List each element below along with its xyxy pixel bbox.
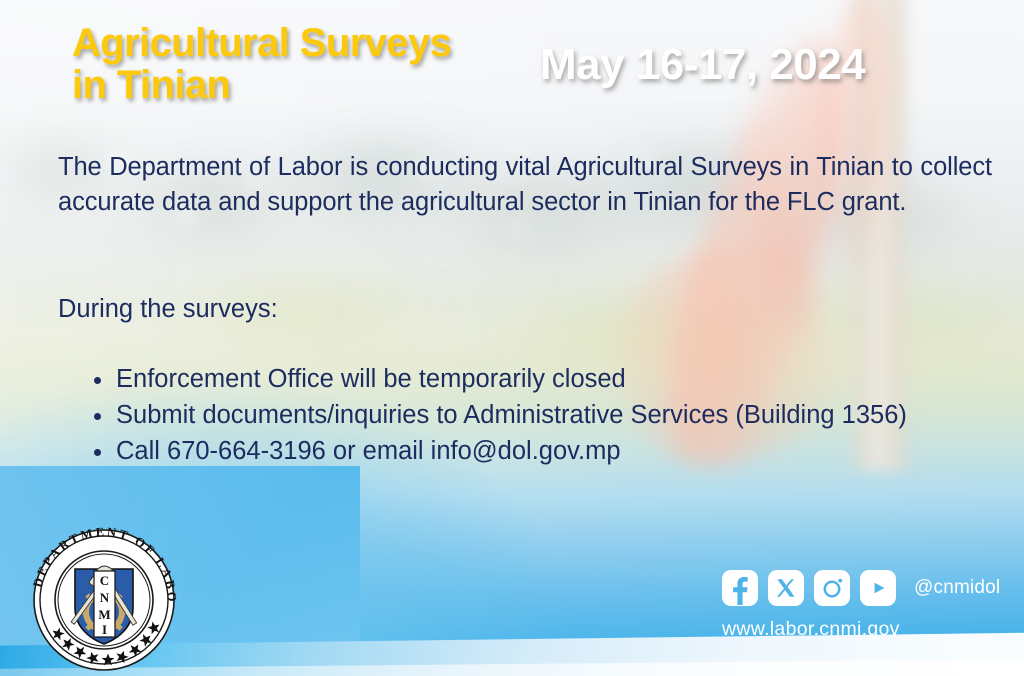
list-item: Call 670-664-3196 or email info@dol.gov.… [94,434,1024,469]
website-url[interactable]: www.labor.cnmi.gov [722,618,900,641]
cnmi-letter-n: N [100,590,110,605]
cnmi-letter-c: C [100,573,109,588]
dol-seal-logo: DEPARTMENT OF LABOR [18,514,190,672]
flyer-canvas: Agricultural Surveys in Tinian May 16-17… [0,0,1024,676]
social-media-row: @cnmidol [722,570,1000,606]
cnmi-letter-i: I [102,622,107,637]
youtube-icon[interactable] [860,570,896,606]
social-handle: @cnmidol [914,577,1000,599]
intro-line-1: The Department of Labor is conducting vi… [58,153,884,181]
list-item: Submit documents/inquiries to Administra… [94,398,1024,433]
facebook-icon[interactable] [722,570,758,606]
flyer-content: Agricultural Surveys in Tinian May 16-17… [0,0,1024,676]
flyer-title: Agricultural Surveys in Tinian [72,22,542,107]
during-surveys-label: During the surveys: [58,292,278,327]
survey-notes-list: Enforcement Office will be temporarily c… [58,362,1024,470]
cnmi-letter-m: M [98,607,110,622]
intro-line-3: the FLC grant. [745,188,907,216]
cnmi-banner: C N M I [94,571,115,637]
intro-paragraph: The Department of Labor is conducting vi… [58,150,992,220]
flyer-title-line-2: in Tinian [72,64,542,106]
x-twitter-icon[interactable] [768,570,804,606]
list-item: Enforcement Office will be temporarily c… [94,362,1024,397]
flyer-title-line-1: Agricultural Surveys [72,21,451,65]
flyer-date: May 16-17, 2024 [540,40,865,90]
instagram-icon[interactable] [814,570,850,606]
